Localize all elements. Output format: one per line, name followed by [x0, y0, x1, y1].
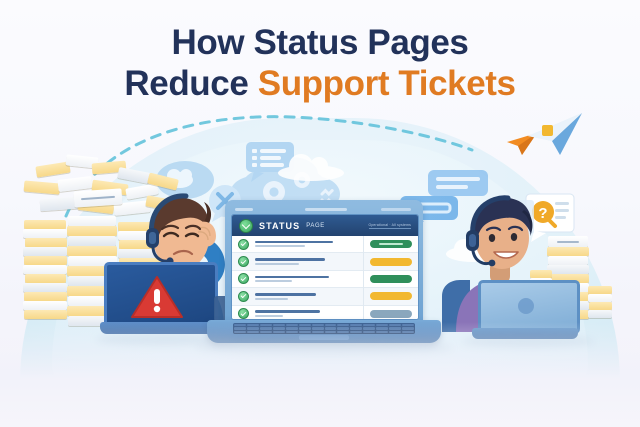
- status-badge: [370, 275, 412, 283]
- service-name: [255, 310, 364, 317]
- service-name: [255, 258, 364, 265]
- status-row-list: [232, 236, 418, 320]
- check-icon: [238, 308, 249, 319]
- status-badge: [370, 310, 412, 318]
- tag-icon: [542, 125, 553, 136]
- table-row[interactable]: [232, 306, 418, 320]
- headline-line-1: How Status Pages: [0, 22, 640, 63]
- headline-line-2-prefix: Reduce: [124, 64, 257, 103]
- status-page-meta-text: Operational · All systems: [369, 223, 412, 227]
- table-row[interactable]: [232, 236, 418, 253]
- headline-line-2: Reduce Support Tickets: [0, 63, 640, 104]
- check-icon: [238, 273, 249, 284]
- paper-plane-icon: [526, 112, 584, 158]
- status-page-meta-rule: [369, 228, 411, 229]
- status-badge: [370, 292, 412, 300]
- table-row[interactable]: [232, 253, 418, 270]
- page-title: How Status Pages Reduce Support Tickets: [0, 22, 640, 105]
- column-divider: [363, 236, 364, 319]
- service-name: [255, 241, 364, 248]
- status-badge: [370, 258, 412, 266]
- check-icon: [238, 291, 249, 302]
- headline-highlight: Support Tickets: [258, 64, 516, 103]
- bottom-fade: [0, 322, 640, 427]
- status-page-subtitle: PAGE: [306, 223, 325, 229]
- illustration-canvas: How Status Pages Reduce Support Tickets: [0, 0, 640, 427]
- status-page-screen: STATUS PAGE Operational · All systems: [231, 214, 419, 320]
- warning-triangle-icon: [130, 274, 184, 320]
- check-icon: [238, 239, 249, 250]
- cloud-icon: [276, 152, 346, 182]
- status-badge: [370, 240, 412, 248]
- service-name: [255, 276, 364, 283]
- status-page-header: STATUS PAGE Operational · All systems: [232, 215, 418, 236]
- service-name: [255, 293, 364, 300]
- check-icon: [238, 256, 249, 267]
- laptop-bezel: [231, 205, 417, 214]
- table-row[interactable]: [232, 288, 418, 305]
- status-page-meta: Operational · All systems: [369, 223, 412, 229]
- check-circle-icon: [239, 219, 253, 233]
- status-page-title: STATUS: [259, 221, 300, 231]
- table-row[interactable]: [232, 271, 418, 288]
